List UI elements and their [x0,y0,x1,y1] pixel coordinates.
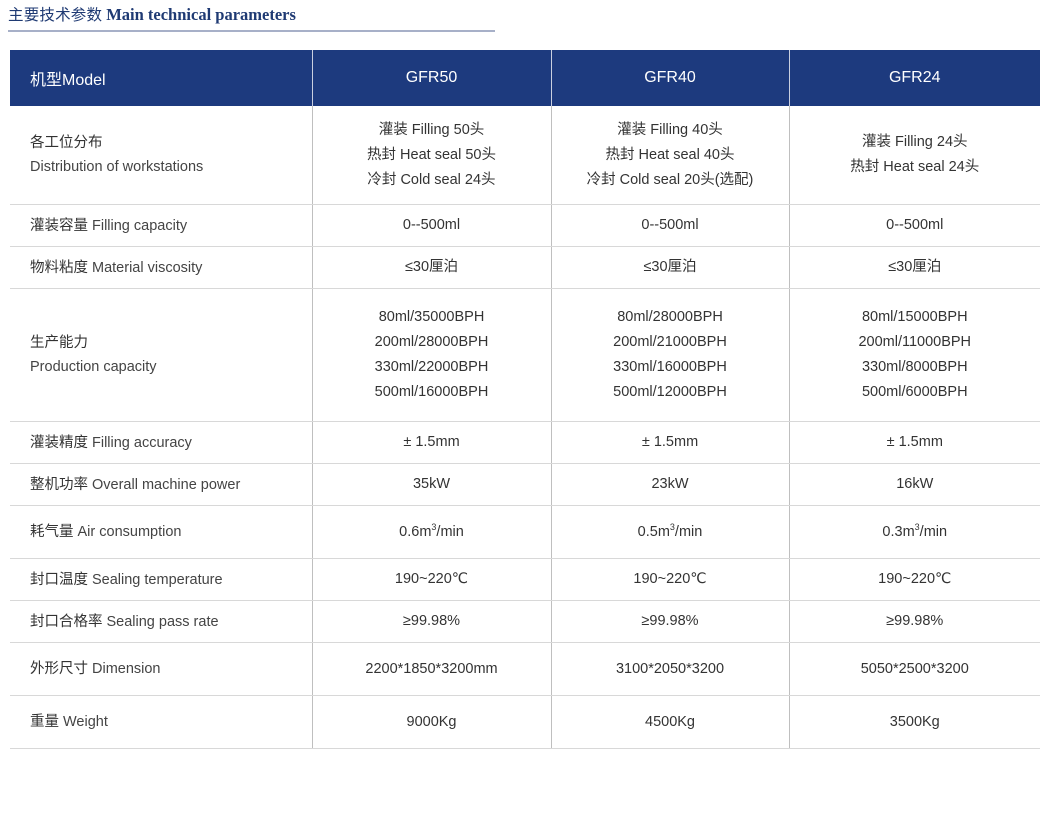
value-line: 热封 Heat seal 40头 [562,143,779,168]
value-line: ≥99.98% [800,609,1031,634]
cell-production-capacity-gfr40: 80ml/28000BPH200ml/21000BPH330ml/16000BP… [551,289,789,422]
header-cell-gfr40: GFR40 [551,50,789,106]
value-line: 4500Kg [562,710,779,735]
value-line: 80ml/15000BPH [800,305,1031,330]
cell-filling-capacity-gfr50: 0--500ml [312,205,551,247]
value-line: 23kW [562,472,779,497]
cell-filling-accuracy-gfr40: ± 1.5mm [551,422,789,464]
row-label-cn: 耗气量 [30,524,74,540]
row-label-workstations: 各工位分布Distribution of workstations [10,106,312,205]
value-line: 80ml/28000BPH [562,305,779,330]
value-line: 灌装 Filling 40头 [562,118,779,143]
table-row: 灌装容量Filling capacity0--500ml0--500ml0--5… [10,205,1040,247]
cell-workstations-gfr50: 灌装 Filling 50头热封 Heat seal 50头冷封 Cold se… [312,106,551,205]
value-line: 0--500ml [562,213,779,238]
value-line: 0.5m3/min [562,520,779,545]
row-label-en: Distribution of workstations [30,155,298,179]
cell-overall-machine-power-gfr50: 35kW [312,464,551,506]
value-line: 0.3m3/min [800,520,1031,545]
value-line: 190~220℃ [562,567,779,592]
table-row: 耗气量Air consumption0.6m3/min0.5m3/min0.3m… [10,506,1040,559]
value-line: 冷封 Cold seal 24头 [323,168,541,193]
cell-sealing-pass-rate-gfr40: ≥99.98% [551,601,789,643]
value-line: ± 1.5mm [800,430,1031,455]
cell-dimension-gfr24: 5050*2500*3200 [789,643,1040,696]
header-cell-model: 机型Model [10,50,312,106]
cubic-superscript: 3 [670,522,675,532]
value-line: 0--500ml [800,213,1031,238]
value-line: 200ml/11000BPH [800,330,1031,355]
cell-sealing-pass-rate-gfr24: ≥99.98% [789,601,1040,643]
value-line: ± 1.5mm [323,430,541,455]
cell-overall-machine-power-gfr40: 23kW [551,464,789,506]
value-line: 热封 Heat seal 24头 [800,155,1031,180]
table-header: 机型Model GFR50 GFR40 GFR24 [10,50,1040,106]
value-line: 16kW [800,472,1031,497]
cell-production-capacity-gfr24: 80ml/15000BPH200ml/11000BPH330ml/8000BPH… [789,289,1040,422]
value-line: 35kW [323,472,541,497]
row-label-cn: 封口合格率 [30,614,103,630]
row-label-cn: 灌装精度 [30,435,88,451]
row-label-overall-machine-power: 整机功率Overall machine power [10,464,312,506]
value-line: 200ml/28000BPH [323,330,541,355]
value-line: 0--500ml [323,213,541,238]
value-line: 灌装 Filling 50头 [323,118,541,143]
cell-material-viscosity-gfr50: ≤30厘泊 [312,247,551,289]
table-row: 物料粘度Material viscosity≤30厘泊≤30厘泊≤30厘泊 [10,247,1040,289]
value-line: 5050*2500*3200 [800,657,1031,682]
table-row: 整机功率Overall machine power35kW23kW16kW [10,464,1040,506]
row-label-filling-accuracy: 灌装精度Filling accuracy [10,422,312,464]
table-row: 封口温度Sealing temperature190~220℃190~220℃1… [10,559,1040,601]
cell-filling-accuracy-gfr50: ± 1.5mm [312,422,551,464]
value-line: 500ml/16000BPH [323,380,541,405]
row-label-cn: 整机功率 [30,477,88,493]
spec-table-wrapper: 机型Model GFR50 GFR40 GFR24 各工位分布Distribut… [10,50,1040,749]
table-row: 重量Weight9000Kg4500Kg3500Kg [10,696,1040,749]
row-label-cn: 生产能力 [30,331,298,355]
cell-overall-machine-power-gfr24: 16kW [789,464,1040,506]
page-title-block: 主要技术参数Main technical parameters [8,4,495,32]
value-line: 190~220℃ [323,567,541,592]
header-cell-gfr24: GFR24 [789,50,1040,106]
cell-weight-gfr50: 9000Kg [312,696,551,749]
value-line: ≤30厘泊 [800,255,1031,280]
row-label-en: Overall machine power [92,477,240,493]
value-line: 冷封 Cold seal 20头(选配) [562,168,779,193]
value-line: ≤30厘泊 [562,255,779,280]
cell-filling-capacity-gfr40: 0--500ml [551,205,789,247]
row-label-cn: 物料粘度 [30,260,88,276]
row-label-weight: 重量Weight [10,696,312,749]
value-line: ± 1.5mm [562,430,779,455]
cell-filling-accuracy-gfr24: ± 1.5mm [789,422,1040,464]
main-technical-parameters-table: 机型Model GFR50 GFR40 GFR24 各工位分布Distribut… [10,50,1040,749]
row-label-cn: 重量 [30,714,59,730]
value-line: ≥99.98% [323,609,541,634]
cell-sealing-temperature-gfr40: 190~220℃ [551,559,789,601]
table-row: 外形尺寸Dimension2200*1850*3200mm3100*2050*3… [10,643,1040,696]
value-line: 330ml/22000BPH [323,355,541,380]
row-label-en: Filling capacity [92,218,187,234]
page-title-en: Main technical parameters [106,5,296,24]
row-label-en: Production capacity [30,355,298,379]
row-label-en: Sealing pass rate [107,614,219,630]
row-label-en: Filling accuracy [92,435,192,451]
row-label-dimension: 外形尺寸Dimension [10,643,312,696]
value-line: ≥99.98% [562,609,779,634]
value-line: 500ml/6000BPH [800,380,1031,405]
row-label-en: Sealing temperature [92,572,223,588]
cubic-superscript: 3 [431,522,436,532]
page-title-cn: 主要技术参数 [8,7,102,24]
value-line: 330ml/8000BPH [800,355,1031,380]
value-line: 80ml/35000BPH [323,305,541,330]
row-label-cn: 各工位分布 [30,131,298,155]
row-label-air-consumption: 耗气量Air consumption [10,506,312,559]
value-line: 0.6m3/min [323,520,541,545]
row-label-production-capacity: 生产能力Production capacity [10,289,312,422]
header-model-en: Model [62,72,106,89]
table-row: 灌装精度Filling accuracy± 1.5mm± 1.5mm± 1.5m… [10,422,1040,464]
row-label-filling-capacity: 灌装容量Filling capacity [10,205,312,247]
table-header-row: 机型Model GFR50 GFR40 GFR24 [10,50,1040,106]
value-line: 灌装 Filling 24头 [800,130,1031,155]
row-label-en: Air consumption [78,524,182,540]
row-label-sealing-pass-rate: 封口合格率Sealing pass rate [10,601,312,643]
value-line: 330ml/16000BPH [562,355,779,380]
cubic-superscript: 3 [915,522,920,532]
value-line: 200ml/21000BPH [562,330,779,355]
table-row: 生产能力Production capacity80ml/35000BPH200m… [10,289,1040,422]
table-row: 封口合格率Sealing pass rate≥99.98%≥99.98%≥99.… [10,601,1040,643]
cell-workstations-gfr40: 灌装 Filling 40头热封 Heat seal 40头冷封 Cold se… [551,106,789,205]
header-cell-gfr50: GFR50 [312,50,551,106]
cell-dimension-gfr50: 2200*1850*3200mm [312,643,551,696]
cell-material-viscosity-gfr40: ≤30厘泊 [551,247,789,289]
cell-sealing-temperature-gfr24: 190~220℃ [789,559,1040,601]
cell-sealing-temperature-gfr50: 190~220℃ [312,559,551,601]
table-body: 各工位分布Distribution of workstations灌装 Fill… [10,106,1040,749]
value-line: 热封 Heat seal 50头 [323,143,541,168]
page-title: 主要技术参数Main technical parameters [8,4,495,30]
cell-dimension-gfr40: 3100*2050*3200 [551,643,789,696]
value-line: ≤30厘泊 [323,255,541,280]
table-row: 各工位分布Distribution of workstations灌装 Fill… [10,106,1040,205]
value-line: 190~220℃ [800,567,1031,592]
row-label-cn: 灌装容量 [30,218,88,234]
value-line: 9000Kg [323,710,541,735]
cell-filling-capacity-gfr24: 0--500ml [789,205,1040,247]
cell-workstations-gfr24: 灌装 Filling 24头热封 Heat seal 24头 [789,106,1040,205]
cell-weight-gfr24: 3500Kg [789,696,1040,749]
row-label-material-viscosity: 物料粘度Material viscosity [10,247,312,289]
row-label-en: Dimension [92,661,161,677]
cell-sealing-pass-rate-gfr50: ≥99.98% [312,601,551,643]
value-line: 3100*2050*3200 [562,657,779,682]
row-label-sealing-temperature: 封口温度Sealing temperature [10,559,312,601]
value-line: 2200*1850*3200mm [323,657,541,682]
cell-weight-gfr40: 4500Kg [551,696,789,749]
title-underline-divider [8,30,495,32]
cell-air-consumption-gfr24: 0.3m3/min [789,506,1040,559]
cell-material-viscosity-gfr24: ≤30厘泊 [789,247,1040,289]
row-label-cn: 封口温度 [30,572,88,588]
header-model-cn: 机型 [30,72,62,89]
cell-air-consumption-gfr40: 0.5m3/min [551,506,789,559]
row-label-en: Material viscosity [92,260,202,276]
value-line: 500ml/12000BPH [562,380,779,405]
row-label-en: Weight [63,714,108,730]
value-line: 3500Kg [800,710,1031,735]
cell-production-capacity-gfr50: 80ml/35000BPH200ml/28000BPH330ml/22000BP… [312,289,551,422]
row-label-cn: 外形尺寸 [30,661,88,677]
cell-air-consumption-gfr50: 0.6m3/min [312,506,551,559]
